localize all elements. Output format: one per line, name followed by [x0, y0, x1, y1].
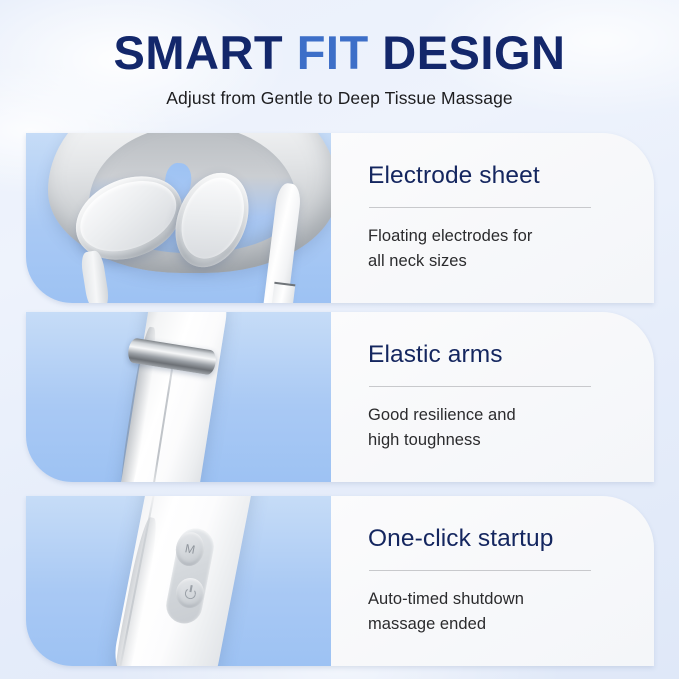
title-divider: [369, 386, 591, 387]
title-part-2: DESIGN: [369, 26, 566, 79]
feature-description-line-2: massage ended: [368, 612, 654, 637]
feature-description-line-1: Floating electrodes for: [368, 224, 654, 249]
feature-description: Auto-timed shutdown massage ended: [368, 587, 654, 637]
title-part-1: SMART: [114, 26, 297, 79]
elastic-arm-illustration: [26, 312, 331, 482]
product-image-control-panel: M: [26, 496, 331, 666]
feature-description: Floating electrodes for all neck sizes: [368, 224, 654, 274]
header: SMART FIT DESIGN Adjust from Gentle to D…: [0, 0, 679, 109]
feature-title: One-click startup: [368, 526, 654, 553]
title-divider: [369, 207, 591, 208]
feature-description-line-2: all neck sizes: [368, 249, 654, 274]
page-subtitle: Adjust from Gentle to Deep Tissue Massag…: [0, 88, 679, 109]
feature-title: Electrode sheet: [368, 163, 654, 190]
massager-arm-tip: [272, 282, 296, 303]
feature-description: Good resilience and high toughness: [368, 403, 654, 453]
product-image-electrode-sheet: [26, 133, 331, 303]
feature-text-electrode-sheet: Electrode sheet Floating electrodes for …: [331, 133, 654, 303]
product-image-elastic-arms: [26, 312, 331, 482]
infographic-page: SMART FIT DESIGN Adjust from Gentle to D…: [0, 0, 679, 679]
feature-text-one-click-startup: One-click startup Auto-timed shutdown ma…: [331, 496, 654, 666]
neck-massager-illustration: [26, 133, 331, 303]
feature-description-line-1: Auto-timed shutdown: [368, 587, 654, 612]
power-icon: [184, 587, 197, 600]
feature-card-electrode-sheet: Electrode sheet Floating electrodes for …: [26, 133, 654, 303]
feature-title: Elastic arms: [368, 342, 654, 369]
mode-button-label: M: [184, 541, 196, 557]
title-divider: [369, 570, 591, 571]
page-title: SMART FIT DESIGN: [0, 28, 679, 77]
feature-text-elastic-arms: Elastic arms Good resilience and high to…: [331, 312, 654, 482]
feature-card-one-click-startup: M One-click startup Auto-timed shutdown …: [26, 496, 654, 666]
feature-description-line-1: Good resilience and: [368, 403, 654, 428]
title-accent-fit: FIT: [297, 26, 369, 79]
control-panel-illustration: M: [26, 496, 331, 666]
feature-description-line-2: high toughness: [368, 428, 654, 453]
feature-card-elastic-arms: Elastic arms Good resilience and high to…: [26, 312, 654, 482]
